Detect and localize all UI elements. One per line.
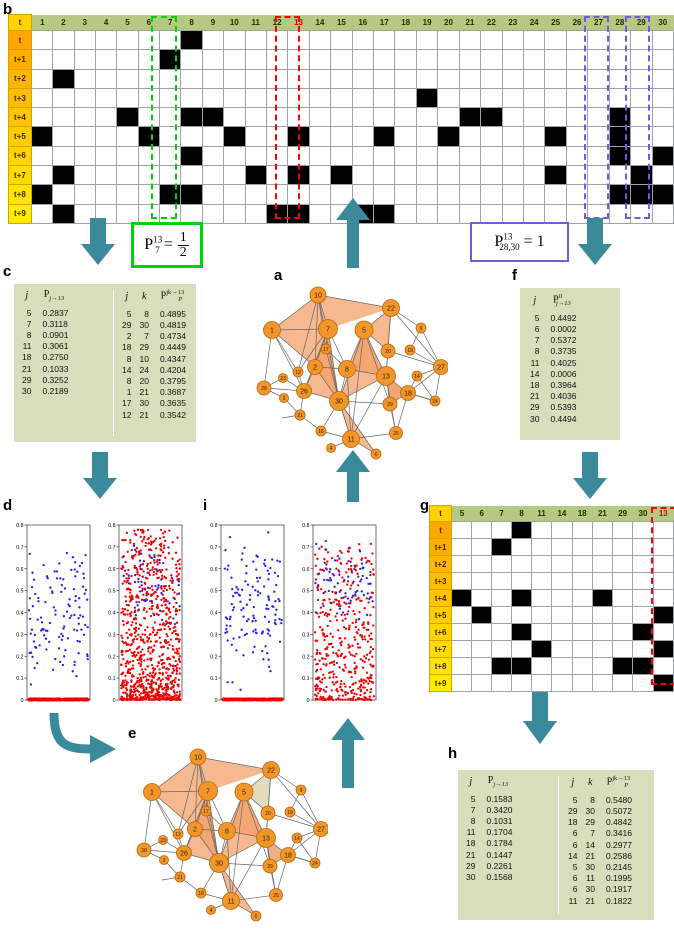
network-node-4[interactable]: 4 [207,906,216,915]
matrix-col-header-19[interactable]: 19 [416,15,437,31]
matrix-cell[interactable] [545,204,566,223]
matrix-cell[interactable] [512,573,532,590]
matrix-cell[interactable] [631,31,652,50]
matrix-cell[interactable] [266,127,287,146]
matrix-col-header-1[interactable]: 1 [31,15,52,31]
matrix-cell[interactable] [266,31,287,50]
matrix-cell[interactable] [633,590,653,607]
matrix-cell[interactable] [523,50,544,69]
matrix-cell-active[interactable] [631,166,652,185]
matrix-cell[interactable] [395,108,416,127]
matrix-cell[interactable] [566,185,587,204]
matrix-cell[interactable] [288,185,309,204]
matrix-cell[interactable] [609,31,630,50]
matrix-cell[interactable] [613,675,633,692]
matrix-cell[interactable] [572,590,592,607]
matrix-cell[interactable] [502,108,523,127]
network-node-7[interactable]: 7 [319,320,338,339]
matrix-cell[interactable] [512,607,532,624]
matrix-cell[interactable] [224,166,245,185]
matrix-cell[interactable] [438,31,459,50]
matrix-cell[interactable] [416,69,437,88]
matrix-cell[interactable] [309,50,330,69]
matrix-cell[interactable] [181,88,202,107]
matrix-cell[interactable] [74,88,95,107]
matrix-cell[interactable] [395,185,416,204]
matrix-col-header-13[interactable]: 13 [653,506,673,522]
matrix-cell[interactable] [74,185,95,204]
matrix-cell[interactable] [309,31,330,50]
matrix-row-header-tp9[interactable]: t+9 [430,675,452,692]
matrix-cell[interactable] [224,108,245,127]
matrix-cell[interactable] [181,204,202,223]
matrix-cell[interactable] [224,204,245,223]
matrix-cell[interactable] [266,166,287,185]
matrix-cell[interactable] [609,88,630,107]
matrix-cell[interactable] [160,108,181,127]
matrix-cell[interactable] [653,590,673,607]
matrix-cell[interactable] [224,50,245,69]
matrix-cell[interactable] [492,522,512,539]
matrix-cell[interactable] [613,539,633,556]
matrix-cell[interactable] [117,31,138,50]
network-node-20[interactable]: 20 [381,344,395,358]
matrix-cell-active[interactable] [652,185,673,204]
matrix-cell[interactable] [138,31,159,50]
matrix-cell[interactable] [395,146,416,165]
matrix-cell[interactable] [74,108,95,127]
matrix-cell[interactable] [452,539,472,556]
matrix-cell[interactable] [245,146,266,165]
network-node-27[interactable]: 27 [314,822,329,837]
matrix-cell[interactable] [288,69,309,88]
matrix-row-header-tp1[interactable]: t+1 [430,539,452,556]
matrix-cell[interactable] [309,185,330,204]
matrix-cell-active[interactable] [288,204,309,223]
matrix-cell[interactable] [74,69,95,88]
matrix-col-header-14[interactable]: 14 [309,15,330,31]
matrix-row-header-tp6[interactable]: t+6 [9,146,32,165]
matrix-cell[interactable] [53,108,74,127]
matrix-cell[interactable] [653,539,673,556]
matrix-row-header-tp3[interactable]: t+3 [430,573,452,590]
matrix-cell[interactable] [117,69,138,88]
matrix-cell[interactable] [395,31,416,50]
network-node-26[interactable]: 26 [177,846,192,861]
matrix-cell-active[interactable] [181,108,202,127]
matrix-cell-active[interactable] [288,127,309,146]
matrix-cell[interactable] [572,556,592,573]
matrix-cell[interactable] [552,607,572,624]
matrix-cell-active[interactable] [613,658,633,675]
matrix-cell[interactable] [352,50,373,69]
matrix-cell-active[interactable] [53,166,74,185]
matrix-cell[interactable] [331,108,352,127]
matrix-cell[interactable] [331,50,352,69]
network-node-10[interactable]: 10 [310,287,326,303]
matrix-cell[interactable] [245,50,266,69]
matrix-cell[interactable] [309,204,330,223]
matrix-cell[interactable] [631,204,652,223]
matrix-col-header-30[interactable]: 30 [633,506,653,522]
matrix-cell[interactable] [181,127,202,146]
matrix-cell[interactable] [481,166,502,185]
matrix-cell[interactable] [416,204,437,223]
matrix-cell[interactable] [653,624,673,641]
network-node-27[interactable]: 27 [434,360,449,375]
network-node-28[interactable]: 28 [137,843,151,857]
matrix-cell[interactable] [138,146,159,165]
matrix-cell[interactable] [288,146,309,165]
matrix-cell[interactable] [352,146,373,165]
matrix-col-header-18[interactable]: 18 [395,15,416,31]
network-node-18[interactable]: 18 [281,848,296,863]
matrix-cell[interactable] [652,108,673,127]
matrix-cell[interactable] [652,204,673,223]
matrix-cell[interactable] [309,127,330,146]
matrix-cell[interactable] [472,590,492,607]
matrix-cell-active[interactable] [452,590,472,607]
matrix-cell[interactable] [224,88,245,107]
network-node-25[interactable]: 25 [270,889,283,902]
matrix-cell[interactable] [492,556,512,573]
matrix-col-header-25[interactable]: 25 [545,15,566,31]
matrix-cell[interactable] [245,127,266,146]
matrix-cell[interactable] [266,50,287,69]
matrix-cell[interactable] [512,539,532,556]
matrix-cell[interactable] [652,88,673,107]
matrix-cell[interactable] [545,69,566,88]
matrix-cell[interactable] [633,573,653,590]
matrix-cell-active[interactable] [653,641,673,658]
network-node-13[interactable]: 13 [377,367,396,386]
matrix-cell[interactable] [352,69,373,88]
matrix-cell[interactable] [95,50,116,69]
matrix-cell[interactable] [374,50,395,69]
matrix-cell[interactable] [138,166,159,185]
matrix-cell[interactable] [352,166,373,185]
matrix-cell[interactable] [452,522,472,539]
matrix-cell-active[interactable] [266,204,287,223]
matrix-cell[interactable] [138,204,159,223]
matrix-cell[interactable] [566,69,587,88]
network-node-8[interactable]: 8 [219,823,236,840]
matrix-cell-active[interactable] [633,658,653,675]
matrix-row-header-tp2[interactable]: t+2 [430,556,452,573]
matrix-col-header-4[interactable]: 4 [95,15,116,31]
matrix-cell-active[interactable] [160,50,181,69]
matrix-cell[interactable] [95,108,116,127]
matrix-col-header-18[interactable]: 18 [572,506,592,522]
matrix-cell[interactable] [95,31,116,50]
matrix-cell[interactable] [31,88,52,107]
matrix-col-header-5[interactable]: 5 [452,506,472,522]
matrix-cell-active[interactable] [532,641,552,658]
matrix-row-header-tp4[interactable]: t+4 [9,108,32,127]
matrix-cell[interactable] [245,108,266,127]
matrix-cell[interactable] [31,108,52,127]
matrix-col-header-16[interactable]: 16 [352,15,373,31]
matrix-cell[interactable] [481,146,502,165]
matrix-cell[interactable] [592,573,612,590]
matrix-cell[interactable] [566,88,587,107]
matrix-cell-active[interactable] [472,607,492,624]
matrix-cell-active[interactable] [416,88,437,107]
matrix-cell[interactable] [117,88,138,107]
matrix-col-header-11[interactable]: 11 [532,506,552,522]
matrix-row-header-t[interactable]: t [9,31,32,50]
matrix-cell[interactable] [653,573,673,590]
matrix-cell-active[interactable] [202,108,223,127]
network-node-17[interactable]: 17 [201,806,211,816]
matrix-cell[interactable] [31,146,52,165]
matrix-cell[interactable] [138,69,159,88]
matrix-cell[interactable] [95,166,116,185]
matrix-cell-active[interactable] [53,69,74,88]
matrix-col-header-6[interactable]: 6 [138,15,159,31]
matrix-cell[interactable] [572,573,592,590]
matrix-cell[interactable] [502,127,523,146]
matrix-cell[interactable] [459,50,480,69]
matrix-cell[interactable] [502,204,523,223]
network-node-5[interactable]: 5 [235,783,253,801]
matrix-col-header-6[interactable]: 6 [472,506,492,522]
matrix-cell[interactable] [202,146,223,165]
matrix-cell-active[interactable] [631,185,652,204]
matrix-cell[interactable] [160,69,181,88]
matrix-cell[interactable] [395,166,416,185]
matrix-col-header-27[interactable]: 27 [588,15,609,31]
matrix-cell[interactable] [95,127,116,146]
network-node-22[interactable]: 22 [383,300,400,317]
matrix-cell[interactable] [572,641,592,658]
matrix-row-header-tp8[interactable]: t+8 [430,658,452,675]
matrix-cell[interactable] [633,556,653,573]
matrix-cell-active[interactable] [138,127,159,146]
matrix-cell[interactable] [631,146,652,165]
matrix-cell[interactable] [545,185,566,204]
matrix-cell[interactable] [512,675,532,692]
matrix-cell[interactable] [452,675,472,692]
matrix-cell[interactable] [588,50,609,69]
matrix-cell[interactable] [459,31,480,50]
matrix-cell-active[interactable] [545,166,566,185]
matrix-cell-active[interactable] [609,146,630,165]
matrix-cell[interactable] [532,556,552,573]
network-node-21[interactable]: 21 [175,872,185,882]
network-node-21[interactable]: 21 [295,410,305,420]
network-node-1[interactable]: 1 [144,784,161,801]
matrix-cell[interactable] [74,166,95,185]
matrix-cell[interactable] [472,556,492,573]
matrix-cell[interactable] [613,607,633,624]
matrix-cell[interactable] [613,556,633,573]
matrix-cell[interactable] [652,166,673,185]
matrix-cell[interactable] [512,641,532,658]
matrix-cell[interactable] [331,146,352,165]
matrix-cell[interactable] [532,624,552,641]
matrix-cell[interactable] [566,108,587,127]
matrix-cell[interactable] [523,185,544,204]
matrix-col-header-9[interactable]: 9 [202,15,223,31]
matrix-cell[interactable] [438,50,459,69]
matrix-cell[interactable] [481,69,502,88]
network-node-18[interactable]: 18 [401,386,416,401]
matrix-cell[interactable] [459,127,480,146]
matrix-cell[interactable] [374,185,395,204]
matrix-cell[interactable] [492,624,512,641]
matrix-cell-active[interactable] [652,146,673,165]
matrix-cell[interactable] [633,522,653,539]
matrix-cell[interactable] [452,607,472,624]
matrix-cell-active[interactable] [609,185,630,204]
matrix-cell[interactable] [472,522,492,539]
matrix-cell[interactable] [532,539,552,556]
matrix-cell[interactable] [552,522,572,539]
matrix-cell[interactable] [438,166,459,185]
matrix-cell[interactable] [160,88,181,107]
network-node-29[interactable]: 29 [263,859,277,873]
matrix-row-header-tp9[interactable]: t+9 [9,204,32,223]
matrix-cell[interactable] [31,204,52,223]
matrix-cell[interactable] [532,522,552,539]
matrix-cell[interactable] [438,108,459,127]
network-graph-a[interactable]: 1234567891011121314151617181920212223242… [238,278,448,463]
matrix-cell[interactable] [472,658,492,675]
matrix-cell[interactable] [438,204,459,223]
matrix-cell-active[interactable] [592,590,612,607]
matrix-cell[interactable] [416,166,437,185]
network-node-11[interactable]: 11 [223,893,240,910]
matrix-cell-active[interactable] [653,607,673,624]
matrix-cell[interactable] [53,146,74,165]
matrix-cell[interactable] [266,88,287,107]
matrix-cell[interactable] [481,204,502,223]
matrix-cell[interactable] [117,166,138,185]
network-node-9[interactable]: 9 [296,785,306,795]
matrix-col-header-13[interactable]: 13 [288,15,309,31]
matrix-cell[interactable] [572,675,592,692]
network-node-20[interactable]: 20 [261,806,275,820]
matrix-cell-active[interactable] [374,127,395,146]
matrix-col-header-7[interactable]: 7 [160,15,181,31]
network-node-28[interactable]: 28 [257,381,271,395]
network-node-24[interactable]: 24 [430,396,440,406]
network-node-6[interactable]: 6 [251,911,261,921]
matrix-cell[interactable] [613,573,633,590]
matrix-cell[interactable] [609,166,630,185]
matrix-cell-active[interactable] [438,127,459,146]
matrix-cell[interactable] [492,641,512,658]
matrix-cell[interactable] [288,108,309,127]
matrix-cell[interactable] [545,50,566,69]
matrix-cell[interactable] [95,88,116,107]
matrix-cell[interactable] [502,31,523,50]
matrix-cell[interactable] [502,88,523,107]
matrix-cell[interactable] [31,166,52,185]
matrix-cell[interactable] [459,166,480,185]
matrix-cell[interactable] [202,185,223,204]
network-node-26[interactable]: 26 [297,384,312,399]
matrix-cell[interactable] [395,127,416,146]
matrix-cell[interactable] [202,31,223,50]
network-node-4[interactable]: 4 [327,444,336,453]
matrix-cell[interactable] [352,31,373,50]
network-node-2[interactable]: 2 [188,822,203,837]
matrix-cell[interactable] [352,108,373,127]
matrix-cell[interactable] [609,69,630,88]
matrix-cell[interactable] [481,50,502,69]
matrix-cell[interactable] [95,146,116,165]
matrix-cell[interactable] [472,675,492,692]
matrix-cell[interactable] [331,69,352,88]
matrix-cell[interactable] [588,31,609,50]
matrix-cell[interactable] [74,146,95,165]
matrix-cell[interactable] [545,146,566,165]
matrix-cell[interactable] [523,166,544,185]
matrix-cell[interactable] [592,539,612,556]
matrix-cell[interactable] [438,146,459,165]
matrix-cell[interactable] [416,146,437,165]
matrix-cell[interactable] [395,50,416,69]
matrix-cell[interactable] [224,185,245,204]
matrix-cell[interactable] [181,50,202,69]
matrix-cell[interactable] [331,127,352,146]
matrix-cell[interactable] [224,146,245,165]
network-node-24[interactable]: 24 [310,858,320,868]
network-node-13[interactable]: 13 [257,829,276,848]
network-node-1[interactable]: 1 [264,322,281,339]
matrix-cell-active[interactable] [512,624,532,641]
matrix-cell[interactable] [309,146,330,165]
matrix-cell[interactable] [653,556,673,573]
matrix-col-header-17[interactable]: 17 [374,15,395,31]
matrix-cell[interactable] [613,590,633,607]
matrix-cell[interactable] [572,658,592,675]
matrix-row-header-tp6[interactable]: t+6 [430,624,452,641]
matrix-cell[interactable] [459,185,480,204]
network-node-10[interactable]: 10 [190,749,206,765]
matrix-cell[interactable] [652,69,673,88]
matrix-cell[interactable] [160,146,181,165]
matrix-cell[interactable] [459,69,480,88]
matrix-cell-active[interactable] [653,675,673,692]
matrix-cell[interactable] [523,127,544,146]
matrix-cell[interactable] [481,88,502,107]
matrix-cell[interactable] [481,127,502,146]
matrix-col-header-10[interactable]: 10 [224,15,245,31]
network-node-19[interactable]: 19 [285,807,295,817]
matrix-cell[interactable] [266,108,287,127]
matrix-cell-active[interactable] [160,185,181,204]
matrix-cell-active[interactable] [633,624,653,641]
matrix-cell[interactable] [588,69,609,88]
matrix-row-header-tp3[interactable]: t+3 [9,88,32,107]
matrix-cell[interactable] [592,675,612,692]
matrix-cell[interactable] [613,624,633,641]
network-node-25[interactable]: 25 [390,427,403,440]
matrix-cell[interactable] [523,204,544,223]
matrix-col-header-28[interactable]: 28 [609,15,630,31]
matrix-cell[interactable] [309,166,330,185]
matrix-col-header-24[interactable]: 24 [523,15,544,31]
matrix-cell[interactable] [592,522,612,539]
matrix-cell[interactable] [631,127,652,146]
matrix-cell[interactable] [224,69,245,88]
network-node-8[interactable]: 8 [339,361,356,378]
matrix-cell[interactable] [523,69,544,88]
matrix-cell[interactable] [309,88,330,107]
